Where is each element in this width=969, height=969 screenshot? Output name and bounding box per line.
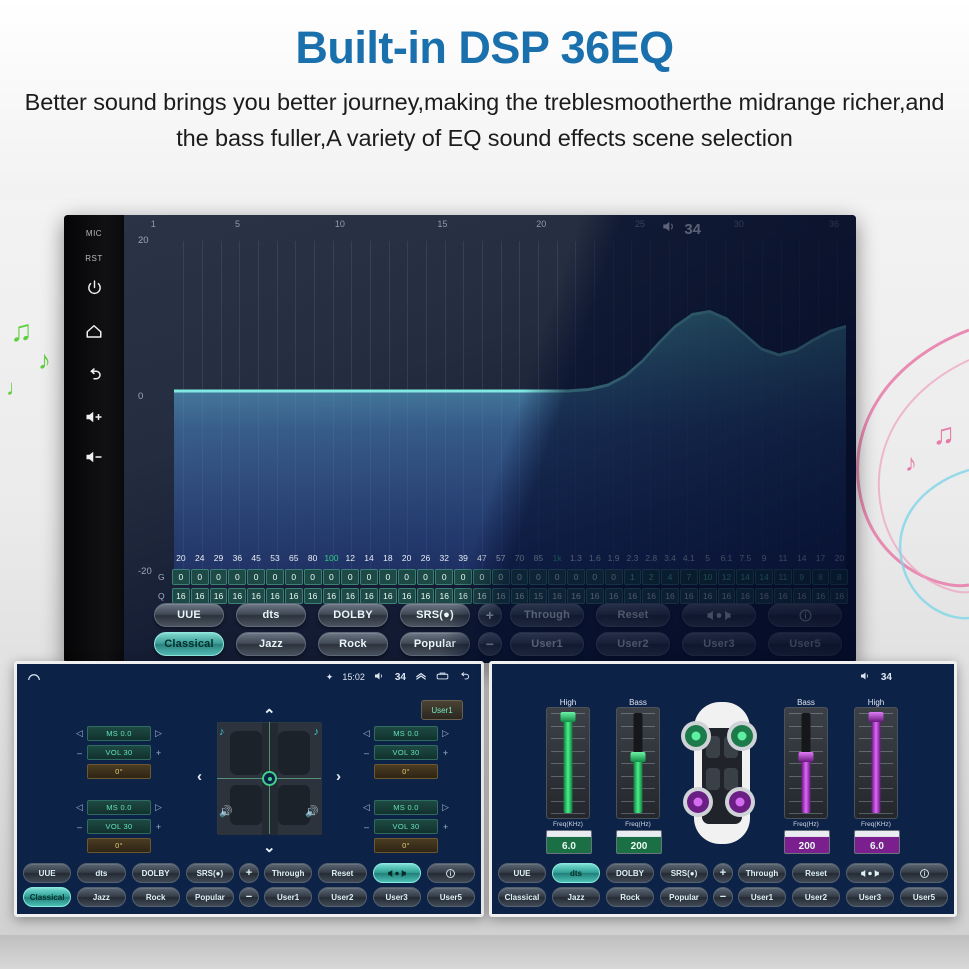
volume-value: 34	[881, 672, 892, 683]
angle-row: 0°	[75, 838, 163, 853]
apps-icon[interactable]	[436, 671, 449, 683]
delay-row: ◁ MS 0.0 ▷	[75, 726, 163, 741]
band-q-cell[interactable]: 16	[285, 588, 303, 604]
band-frequency-label: 100	[323, 553, 341, 563]
band-gain-cell[interactable]: 4	[661, 569, 679, 585]
band-q-cell[interactable]: 16	[793, 588, 811, 604]
band-frequency-label: 1.3	[567, 553, 585, 563]
band-frequency-label: 12	[341, 553, 359, 563]
volume-row: – VOL 30 +	[75, 745, 163, 760]
speaker-stepper-front-left: ◁ MS 0.0 ▷ – VOL 30 + 0°	[75, 726, 163, 783]
band-frequency-label: 24	[191, 553, 209, 563]
band-gain-cell[interactable]: 2	[642, 569, 660, 585]
slider-freq-value[interactable]: 6.0	[546, 830, 592, 854]
preset-button-rock[interactable]: Rock	[606, 887, 654, 907]
band-gain-cell[interactable]: 0	[172, 569, 190, 585]
music-note-icon: ♫	[933, 418, 956, 452]
band-gain-cell[interactable]: 0	[228, 569, 246, 585]
band-gain-cell[interactable]: 0	[435, 569, 453, 585]
preset-button-popular[interactable]: Popular	[660, 887, 708, 907]
balance-icon[interactable]	[373, 863, 421, 883]
reset-button[interactable]: Reset	[318, 863, 366, 883]
mic-label: MIC	[86, 229, 102, 238]
user2-button[interactable]: User2	[792, 887, 840, 907]
band-gain-cell[interactable]: 0	[210, 569, 228, 585]
slider-knob[interactable]	[631, 752, 646, 762]
crossover-slider-front-left: High Freq(KHz) 6.0	[546, 698, 594, 854]
band-value-table: 2024293645536580100121418202632394757708…	[158, 549, 848, 607]
band-q-cell[interactable]: 16	[304, 588, 322, 604]
band-gain-cell[interactable]: 7	[680, 569, 698, 585]
slider-fill	[564, 716, 573, 813]
prev-arrow-icon[interactable]: ◁	[362, 728, 371, 739]
band-gain-cell[interactable]: 14	[755, 569, 773, 585]
angle-value[interactable]: 0°	[87, 838, 151, 853]
crossover-slider-rear-left: Bass Freq(Hz) 200	[616, 698, 664, 854]
speaker-stepper-rear-right: ◁ MS 0.0 ▷ – VOL 30 + 0°	[362, 800, 450, 857]
band-gain-cell[interactable]: 0	[247, 569, 265, 585]
music-note-icon: ♪	[905, 450, 917, 478]
slider-label: High	[546, 698, 590, 707]
delay-value[interactable]: MS 0.0	[87, 800, 151, 815]
volume-value[interactable]: VOL 30	[374, 819, 438, 834]
band-q-cell[interactable]: 16	[323, 588, 341, 604]
brand-button-srs[interactable]: SRS(●)	[186, 863, 234, 883]
band-frequency-label: 2.3	[624, 553, 642, 563]
header-banner: Built-in DSP 36EQ Better sound brings yo…	[0, 0, 969, 208]
action-button-grid: Through Reset User1 User2 User3 User5	[264, 863, 475, 911]
user1-button[interactable]: User1	[510, 632, 584, 656]
band-frequency-label: 14	[360, 553, 378, 563]
device-bezel: MIC RST	[64, 215, 124, 663]
eq-response-plot: 20 0 -20	[174, 241, 846, 571]
band-q-cell[interactable]: 16	[341, 588, 359, 604]
active-user-badge[interactable]: User1	[421, 700, 463, 720]
frequency-row: 2024293645536580100121418202632394757708…	[158, 549, 848, 567]
band-gain-cell[interactable]: 0	[529, 569, 547, 585]
slider-track-area[interactable]	[616, 707, 660, 819]
band-gain-cell[interactable]: 0	[605, 569, 623, 585]
user1-button[interactable]: User1	[738, 887, 786, 907]
crossover-body: High Freq(KHz) 6.0 Bass Freq(Hz) 200	[492, 690, 954, 866]
angle-value[interactable]: 0°	[374, 838, 438, 853]
band-frequency-label: 2.8	[642, 553, 660, 563]
increase-button[interactable]: +	[239, 863, 259, 883]
plus-icon[interactable]: +	[441, 748, 450, 758]
action-button-grid: Through Reset User1 User2 User3 User5	[738, 863, 948, 911]
prev-arrow-icon[interactable]: ◁	[362, 802, 371, 813]
brand-button-uue[interactable]: UUE	[23, 863, 71, 883]
band-q-cell[interactable]: 16	[830, 588, 848, 604]
increase-button[interactable]: +	[713, 863, 733, 883]
back-icon[interactable]	[458, 671, 471, 683]
plus-icon[interactable]: +	[154, 748, 163, 758]
stepper-column: + −	[239, 863, 259, 911]
user1-button[interactable]: User1	[264, 887, 312, 907]
slider-knob[interactable]	[561, 712, 576, 722]
minus-icon[interactable]: –	[362, 822, 371, 832]
brand-button-uue[interactable]: UUE	[154, 603, 224, 627]
preset-button-jazz[interactable]: Jazz	[236, 632, 306, 656]
brand-button-srs[interactable]: SRS(●)	[400, 603, 470, 627]
band-q-cell[interactable]: 16	[755, 588, 773, 604]
balance-icon[interactable]	[682, 603, 756, 627]
brand-button-dts[interactable]: dts	[552, 863, 600, 883]
music-note-icon: ♩	[6, 375, 28, 401]
band-q-cell[interactable]: 16	[266, 588, 284, 604]
panel-button-bar: UUE dts DOLBY SRS(●) Classical Jazz Rock…	[498, 863, 948, 911]
brand-button-srs[interactable]: SRS(●)	[660, 863, 708, 883]
band-gain-cell[interactable]: 0	[548, 569, 566, 585]
band-gain-cell[interactable]: 0	[473, 569, 491, 585]
q-row-label: Q	[158, 591, 172, 601]
minus-icon[interactable]: –	[75, 822, 84, 832]
band-gain-cell[interactable]: 11	[774, 569, 792, 585]
ruler-tick: 5	[235, 219, 240, 229]
band-frequency-label: 9	[755, 553, 773, 563]
angle-row: 0°	[362, 838, 450, 853]
band-q-cell[interactable]: 16	[699, 588, 717, 604]
user2-button[interactable]: User2	[318, 887, 366, 907]
band-frequency-label: 80	[304, 553, 322, 563]
clock-label: 15:02	[342, 672, 365, 682]
band-gain-cell[interactable]: 14	[736, 569, 754, 585]
band-q-cell[interactable]: 16	[191, 588, 209, 604]
brand-button-dolby[interactable]: DOLBY	[606, 863, 654, 883]
brand-button-dolby[interactable]: DOLBY	[318, 603, 388, 627]
band-q-cell[interactable]: 16	[492, 588, 510, 604]
band-frequency-label: 26	[417, 553, 435, 563]
preset-button-popular[interactable]: Popular	[400, 632, 470, 656]
speaker-rear-right-icon[interactable]: 🔊	[305, 805, 319, 818]
band-gain-cell[interactable]: 0	[511, 569, 529, 585]
info-icon[interactable]	[768, 603, 842, 627]
preset-button-jazz[interactable]: Jazz	[552, 887, 600, 907]
signal-icon: ✦	[326, 672, 334, 683]
through-button[interactable]: Through	[510, 603, 584, 627]
band-frequency-label: 20	[830, 553, 848, 563]
delay-value[interactable]: MS 0.0	[374, 726, 438, 741]
plus-icon[interactable]: +	[154, 822, 163, 832]
panel-button-bar: UUE dts DOLBY SRS(●) Classical Jazz Rock…	[23, 863, 475, 911]
y-axis-bottom-label: -20	[138, 566, 152, 577]
preset-button-popular[interactable]: Popular	[186, 887, 234, 907]
band-frequency-label: 3.4	[661, 553, 679, 563]
user3-button[interactable]: User3	[846, 887, 894, 907]
minus-icon[interactable]: –	[362, 748, 371, 758]
decrease-button[interactable]: −	[713, 887, 733, 907]
band-q-cell[interactable]: 16	[680, 588, 698, 604]
band-ruler: 1 5 10 15 20 25 30 36 34	[124, 219, 856, 241]
band-frequency-label: 1.6	[586, 553, 604, 563]
band-q-cell[interactable]: 16	[454, 588, 472, 604]
delay-row: ◁ MS 0.0 ▷	[362, 726, 450, 741]
volume-row: – VOL 30 +	[362, 819, 450, 834]
slider-fill	[872, 716, 881, 813]
increase-button[interactable]: +	[478, 603, 502, 627]
band-gain-cell[interactable]: 0	[379, 569, 397, 585]
decrease-button[interactable]: −	[478, 632, 502, 656]
crossover-slider-front-right: High Freq(KHz) 6.0	[854, 698, 902, 854]
band-gain-cell[interactable]: 0	[341, 569, 359, 585]
next-arrow-icon[interactable]: ▷	[154, 728, 163, 739]
slider-knob[interactable]	[869, 712, 884, 722]
speaker-front-left-icon[interactable]: ♪	[219, 726, 225, 738]
band-q-cell[interactable]: 16	[642, 588, 660, 604]
speaker-rear-left-icon[interactable]: 🔊	[219, 805, 233, 818]
volume-value[interactable]: VOL 30	[87, 819, 151, 834]
delay-row: ◁ MS 0.0 ▷	[362, 800, 450, 815]
slider-freq-label: Freq(KHz)	[852, 821, 900, 828]
band-frequency-label: 57	[492, 553, 510, 563]
home-icon[interactable]	[27, 671, 41, 684]
band-frequency-label: 17	[812, 553, 830, 563]
home-icon[interactable]	[85, 322, 103, 340]
band-gain-cell[interactable]: 8	[812, 569, 830, 585]
band-frequency-label: 11	[774, 553, 792, 563]
band-q-cell[interactable]: 16	[718, 588, 736, 604]
angle-value[interactable]: 0°	[87, 764, 151, 779]
band-q-cell[interactable]: 16	[586, 588, 604, 604]
info-icon[interactable]	[900, 863, 948, 883]
band-frequency-label: 36	[228, 553, 246, 563]
band-gain-cell[interactable]: 0	[492, 569, 510, 585]
preset-button-classical[interactable]: Classical	[23, 887, 71, 907]
brand-button-uue[interactable]: UUE	[498, 863, 546, 883]
fader-position-handle[interactable]	[262, 771, 277, 786]
preset-button-classical[interactable]: Classical	[498, 887, 546, 907]
reset-button[interactable]: Reset	[792, 863, 840, 883]
band-gain-cell[interactable]: 0	[360, 569, 378, 585]
speaker-icon	[662, 220, 678, 238]
band-frequency-label: 5	[699, 553, 717, 563]
band-q-cell[interactable]: 16	[360, 588, 378, 604]
fader-left-arrow-icon[interactable]: ‹	[197, 768, 202, 785]
slider-track-area[interactable]	[784, 707, 828, 819]
slider-freq-label: Freq(Hz)	[614, 821, 662, 828]
delay-row: ◁ MS 0.0 ▷	[75, 800, 163, 815]
band-q-cell[interactable]: 16	[228, 588, 246, 604]
user2-button[interactable]: User2	[596, 632, 670, 656]
volume-value[interactable]: VOL 30	[374, 745, 438, 760]
page-subtitle: Better sound brings you better journey,m…	[0, 76, 969, 156]
car-head-unit: MIC RST 1 5 10 15 20 25 30 36	[64, 215, 856, 663]
ruler-tick: 30	[734, 219, 744, 229]
stepper-column: + −	[478, 603, 502, 659]
band-frequency-label: 32	[435, 553, 453, 563]
band-gain-cell[interactable]: 0	[191, 569, 209, 585]
decrease-button[interactable]: −	[239, 887, 259, 907]
volume-value[interactable]: VOL 30	[87, 745, 151, 760]
preset-button-grid: UUE dts DOLBY SRS(●) Classical Jazz Rock…	[498, 863, 708, 911]
user5-button[interactable]: User5	[427, 887, 475, 907]
balance-fader-control[interactable]: ⌃ ⌄ ‹ › ♪ ♪ 🔊 🔊	[195, 708, 343, 848]
band-q-cell[interactable]: 16	[661, 588, 679, 604]
band-q-cell[interactable]: 16	[511, 588, 529, 604]
back-icon[interactable]	[85, 366, 103, 384]
speaker-front-right-icon[interactable]: ♪	[314, 726, 320, 738]
rst-label: RST	[85, 254, 103, 263]
slider-freq-value[interactable]: 6.0	[854, 830, 900, 854]
speaker-stepper-front-right: ◁ MS 0.0 ▷ – VOL 30 + 0°	[362, 726, 450, 783]
fader-up-arrow-icon[interactable]: ⌃	[263, 706, 276, 724]
band-gain-cell[interactable]: 0	[417, 569, 435, 585]
band-gain-cell[interactable]: 0	[586, 569, 604, 585]
slider-freq-label: Freq(Hz)	[782, 821, 830, 828]
band-q-cell[interactable]: 16	[812, 588, 830, 604]
angle-row: 0°	[362, 764, 450, 779]
band-frequency-label: 85	[529, 553, 547, 563]
angle-row: 0°	[75, 764, 163, 779]
gain-row: G 00000000000000000000000012471012141411…	[158, 568, 848, 586]
plus-icon[interactable]: +	[441, 822, 450, 832]
band-q-cell[interactable]: 16	[774, 588, 792, 604]
status-bar: ✦ 15:02 34	[17, 664, 481, 690]
through-button[interactable]: Through	[738, 863, 786, 883]
fader-down-arrow-icon[interactable]: ⌄	[263, 838, 276, 856]
band-frequency-label: 45	[247, 553, 265, 563]
car-speaker-diagram	[672, 698, 772, 848]
band-gain-cell[interactable]: 0	[454, 569, 472, 585]
band-frequency-label: 39	[454, 553, 472, 563]
slider-label: Bass	[784, 698, 828, 707]
prev-arrow-icon[interactable]: ◁	[75, 728, 84, 739]
band-frequency-label: 4.1	[680, 553, 698, 563]
angle-value[interactable]: 0°	[374, 764, 438, 779]
brand-button-dts[interactable]: dts	[236, 603, 306, 627]
band-q-cell[interactable]: 16	[172, 588, 190, 604]
band-q-cell[interactable]: 16	[567, 588, 585, 604]
band-q-cell[interactable]: 16	[417, 588, 435, 604]
eq-curve	[174, 241, 846, 571]
ruler-tick: 20	[536, 219, 546, 229]
slider-track-area[interactable]	[546, 707, 590, 819]
delay-value[interactable]: MS 0.0	[87, 726, 151, 741]
band-q-cell[interactable]: 16	[736, 588, 754, 604]
y-axis-mid-label: 0	[138, 391, 143, 402]
slider-freq-label: Freq(KHz)	[544, 821, 592, 828]
info-icon[interactable]	[427, 863, 475, 883]
user3-button[interactable]: User3	[373, 887, 421, 907]
band-frequency-label: 20	[398, 553, 416, 563]
next-arrow-icon[interactable]: ▷	[441, 728, 450, 739]
band-q-cell[interactable]: 16	[605, 588, 623, 604]
slider-fill	[802, 756, 811, 813]
band-frequency-label: 29	[210, 553, 228, 563]
band-gain-cell[interactable]: 0	[398, 569, 416, 585]
power-icon[interactable]	[86, 279, 103, 296]
volume-down-icon[interactable]	[85, 450, 103, 464]
ruler-tick: 36	[829, 219, 839, 229]
band-gain-cell[interactable]: 0	[304, 569, 322, 585]
user5-button[interactable]: User5	[768, 632, 842, 656]
band-gain-cell[interactable]: 1	[624, 569, 642, 585]
next-arrow-icon[interactable]: ▷	[154, 802, 163, 813]
band-q-cell[interactable]: 16	[379, 588, 397, 604]
brand-button-dts[interactable]: dts	[77, 863, 125, 883]
y-axis-top-label: 20	[138, 235, 149, 246]
status-bar: 34	[492, 664, 954, 690]
band-gain-cell[interactable]: 12	[718, 569, 736, 585]
band-q-cell[interactable]: 16	[398, 588, 416, 604]
slider-freq-value[interactable]: 200	[784, 830, 830, 854]
slider-label: High	[854, 698, 898, 707]
desk-surface	[0, 935, 969, 969]
slider-freq-value[interactable]: 200	[616, 830, 662, 854]
band-gain-cell[interactable]: 0	[567, 569, 585, 585]
volume-value: 34	[684, 221, 701, 238]
slider-fill	[634, 756, 643, 813]
minus-icon[interactable]: –	[75, 748, 84, 758]
ruler-tick: 1	[151, 219, 156, 229]
eq-screen: 1 5 10 15 20 25 30 36 34 20 0 -20	[124, 215, 856, 663]
chevron-up-icon[interactable]	[415, 671, 427, 683]
band-frequency-label: 7.5	[736, 553, 754, 563]
band-frequency-label: 53	[266, 553, 284, 563]
band-q-cell[interactable]: 16	[548, 588, 566, 604]
speaker-stepper-rear-left: ◁ MS 0.0 ▷ – VOL 30 + 0°	[75, 800, 163, 857]
band-gain-cell[interactable]: 10	[699, 569, 717, 585]
balance-icon[interactable]	[846, 863, 894, 883]
fader-right-arrow-icon[interactable]: ›	[336, 768, 341, 785]
volume-value: 34	[395, 672, 406, 683]
preset-button-classical[interactable]: Classical	[154, 632, 224, 656]
sound-field-body: User1 ◁ MS 0.0 ▷ – VOL 30 + 0° ◁ MS 0.0	[17, 690, 481, 866]
band-frequency-label: 65	[285, 553, 303, 563]
prev-arrow-icon[interactable]: ◁	[75, 802, 84, 813]
volume-up-icon[interactable]	[85, 410, 103, 424]
crossover-slider-rear-right: Bass Freq(Hz) 200	[784, 698, 832, 854]
crossover-panel: 34 High Freq(KHz) 6.0 Bass Freq(Hz)	[489, 661, 957, 917]
preset-button-rock[interactable]: Rock	[132, 887, 180, 907]
band-frequency-label: 70	[511, 553, 529, 563]
next-arrow-icon[interactable]: ▷	[441, 802, 450, 813]
slider-knob[interactable]	[799, 752, 814, 762]
band-gain-cell[interactable]: 0	[266, 569, 284, 585]
band-q-cell[interactable]: 16	[624, 588, 642, 604]
volume-indicator: 34	[662, 220, 701, 238]
band-frequency-label: 20	[172, 553, 190, 563]
band-gain-cell[interactable]: 8	[830, 569, 848, 585]
band-q-cell[interactable]: 16	[473, 588, 491, 604]
page-title: Built-in DSP 36EQ	[0, 0, 969, 76]
band-gain-cell[interactable]: 0	[285, 569, 303, 585]
band-gain-cell[interactable]: 0	[323, 569, 341, 585]
ruler-tick: 25	[635, 219, 645, 229]
band-q-cell[interactable]: 16	[435, 588, 453, 604]
volume-row: – VOL 30 +	[75, 819, 163, 834]
band-frequency-label: 6.1	[718, 553, 736, 563]
brand-button-dolby[interactable]: DOLBY	[132, 863, 180, 883]
through-button[interactable]: Through	[264, 863, 312, 883]
slider-track-area[interactable]	[854, 707, 898, 819]
band-q-cell[interactable]: 16	[210, 588, 228, 604]
slider-label: Bass	[616, 698, 660, 707]
preset-button-jazz[interactable]: Jazz	[77, 887, 125, 907]
speaker-icon	[374, 671, 386, 683]
delay-value[interactable]: MS 0.0	[374, 800, 438, 815]
ruler-tick: 15	[437, 219, 447, 229]
preset-button-rock[interactable]: Rock	[318, 632, 388, 656]
music-note-icon: ♪	[38, 345, 51, 376]
band-q-cell[interactable]: 15	[529, 588, 547, 604]
user3-button[interactable]: User3	[682, 632, 756, 656]
ruler-tick: 10	[335, 219, 345, 229]
reset-button[interactable]: Reset	[596, 603, 670, 627]
band-gain-cell[interactable]: 9	[793, 569, 811, 585]
band-q-cell[interactable]: 16	[247, 588, 265, 604]
user5-button[interactable]: User5	[900, 887, 948, 907]
